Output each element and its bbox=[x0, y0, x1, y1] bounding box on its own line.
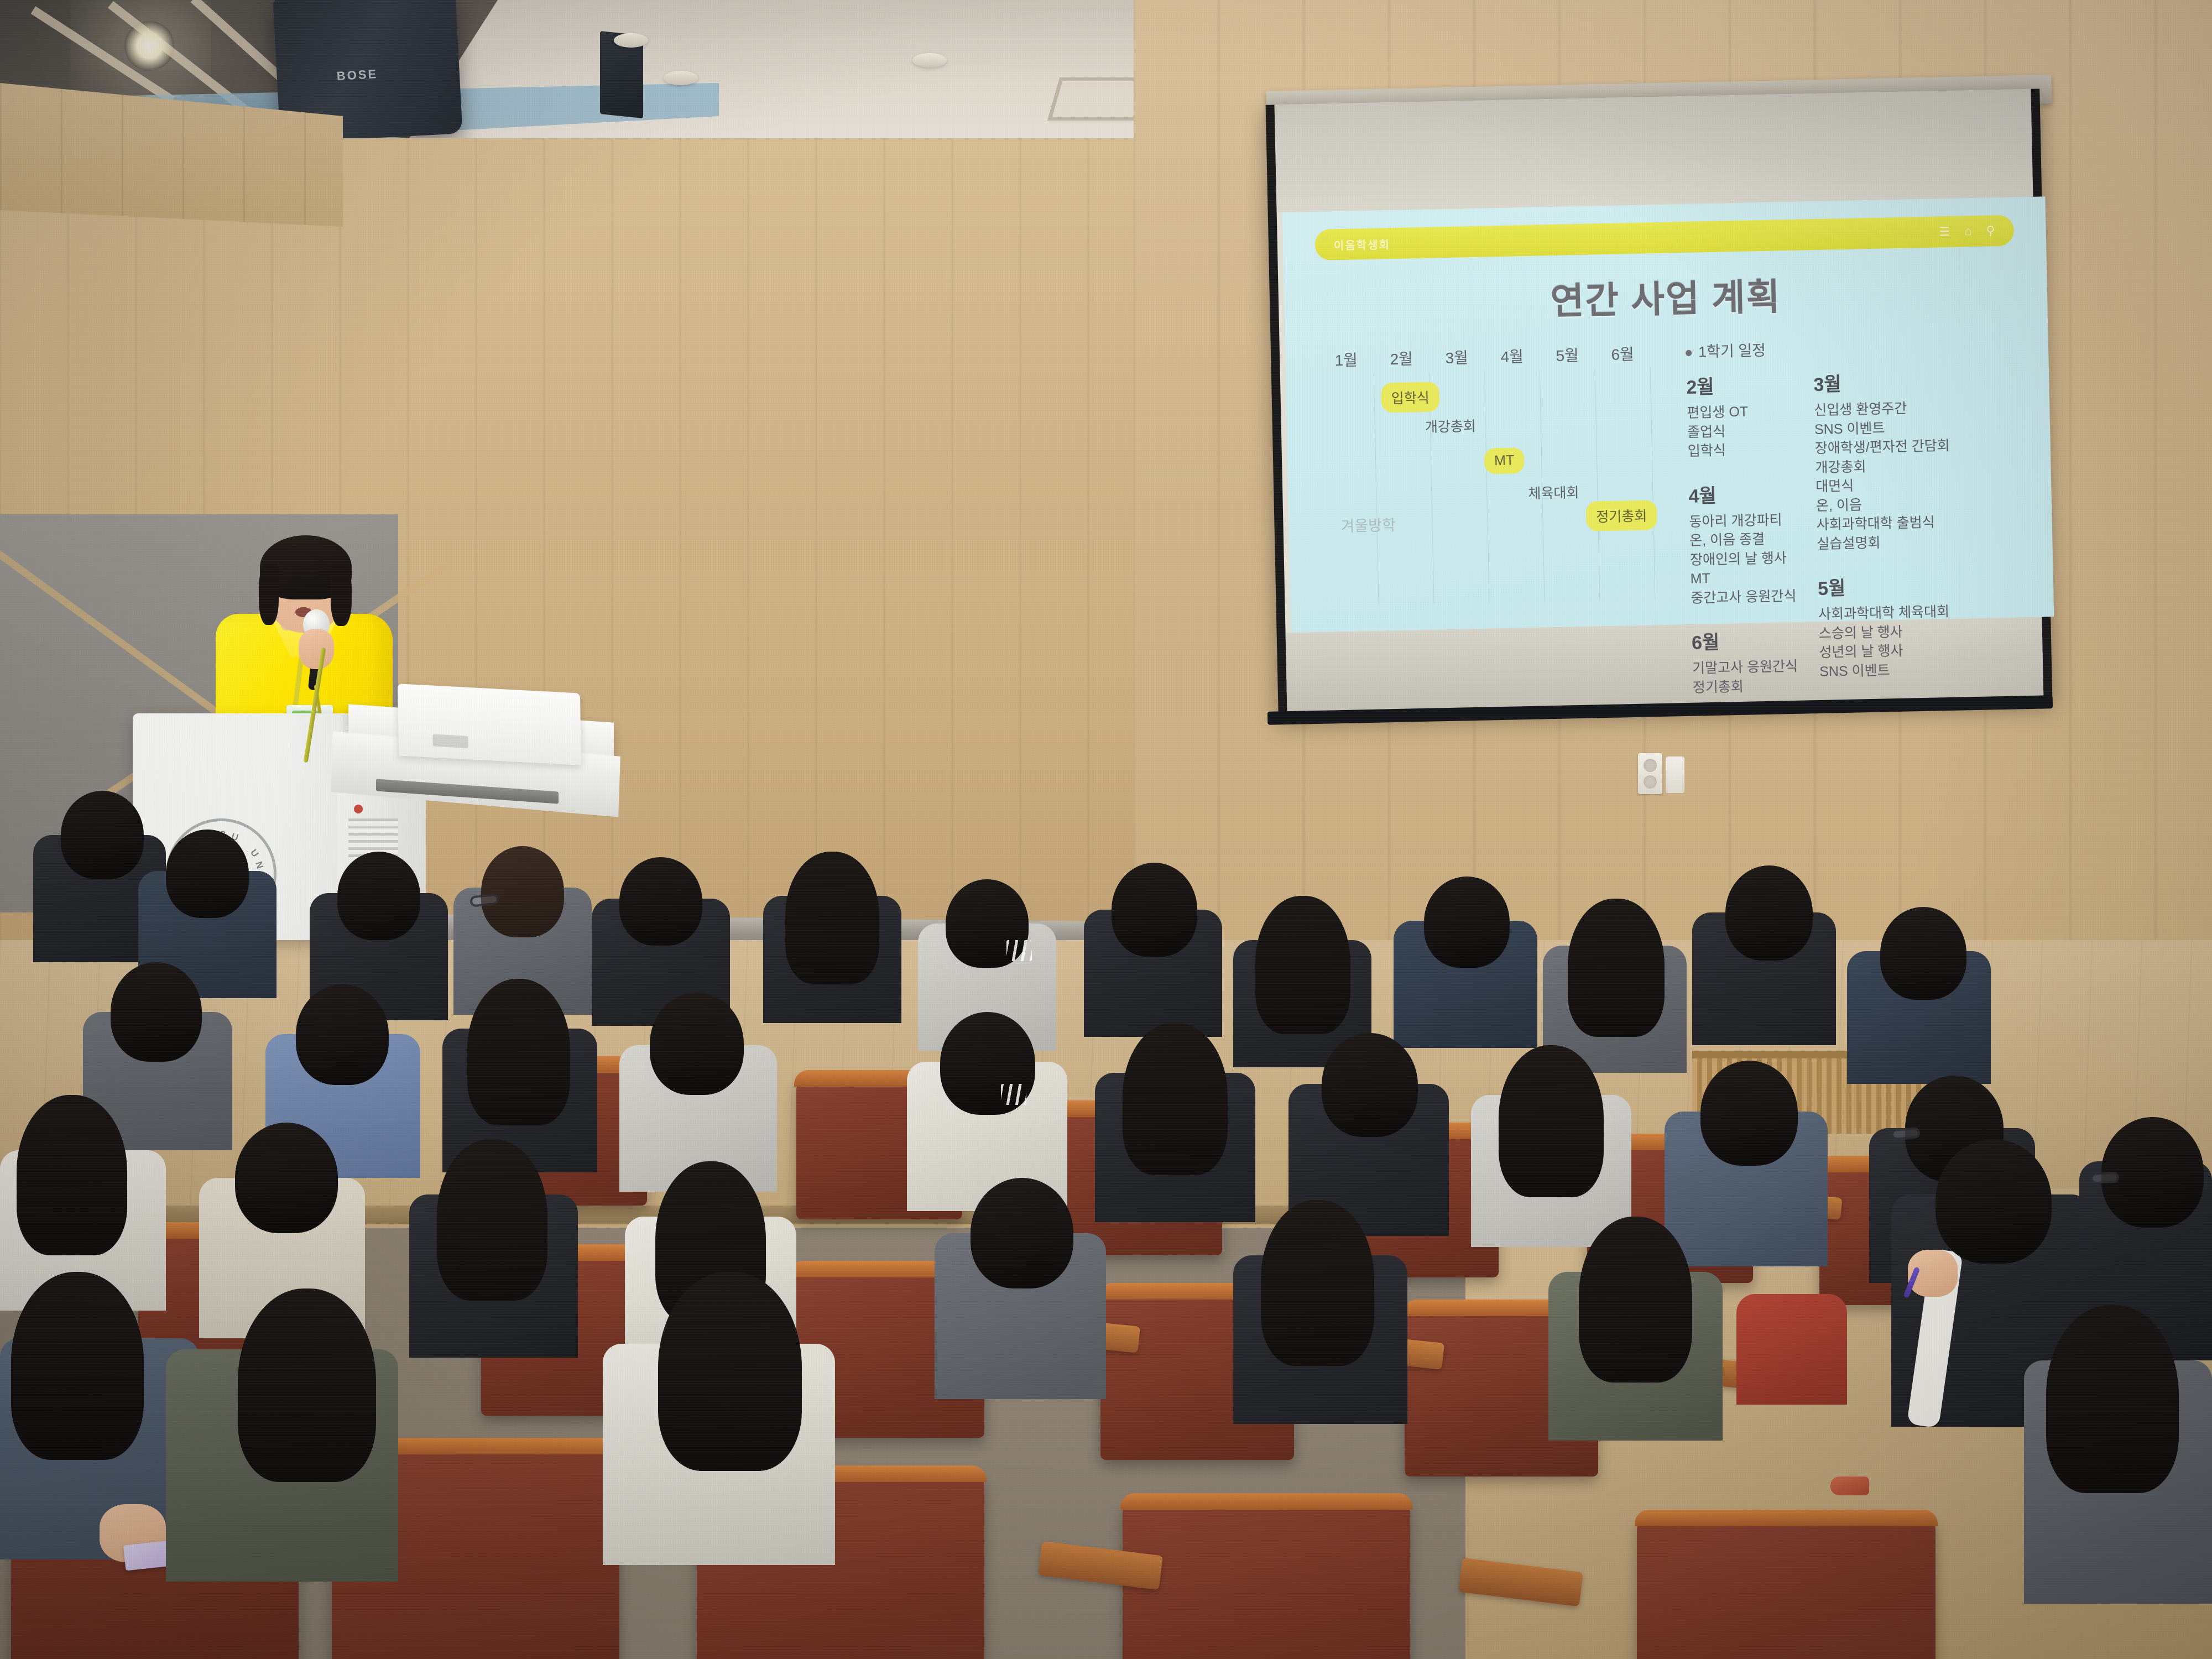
home-icon[interactable]: ⌂ bbox=[1964, 225, 1972, 237]
audience-member-head bbox=[1725, 865, 1813, 961]
slide-brand-label: 이음학생회 bbox=[1334, 236, 1391, 253]
presenter-hair-left bbox=[259, 564, 279, 625]
timeline-month-axis: 1월 2월 3월 4월 5월 6월 bbox=[1318, 341, 1673, 371]
timeline-marker-sports-day: 체육대회 bbox=[1528, 482, 1579, 503]
audience-member-hair bbox=[2046, 1305, 2179, 1493]
timeline-marker-entrance-ceremony: 입학식 bbox=[1381, 382, 1439, 413]
audience-member-head bbox=[1936, 1139, 2052, 1264]
audience-member-hair bbox=[238, 1288, 376, 1482]
agenda-item: 온, 이음 종결 bbox=[1689, 529, 1817, 550]
agenda-item: 입학식 bbox=[1688, 439, 1815, 461]
audience-member-hair bbox=[658, 1272, 802, 1471]
eyeglasses bbox=[1891, 1127, 1920, 1140]
timeline-month-label: 1월 bbox=[1318, 348, 1374, 371]
agenda-month-may: 5월 bbox=[1818, 570, 1979, 601]
auditorium-seat-foreground[interactable] bbox=[1637, 1515, 1936, 1659]
audience-member-hair bbox=[17, 1095, 127, 1255]
timeline-gridlines bbox=[1319, 367, 1667, 607]
timeline-marker-general-meeting: 정기총회 bbox=[1586, 500, 1657, 531]
audience-member-head bbox=[1700, 1061, 1798, 1166]
audience-member-head bbox=[481, 846, 564, 937]
agenda-month-apr: 4월 bbox=[1688, 478, 1816, 508]
audience-member-head bbox=[1112, 863, 1197, 957]
audience-member-hair bbox=[1261, 1200, 1374, 1366]
agenda-column-left: 2월 편입생 OT 졸업식 입학식 4월 동아리 개강파티 온, 이음 종결 장… bbox=[1686, 338, 1820, 697]
slide-body: 1월 2월 3월 4월 5월 6월 bbox=[1307, 334, 2033, 705]
adidas-stripes-icon bbox=[1006, 940, 1032, 961]
audience-member-hair bbox=[1579, 1217, 1692, 1383]
slide-title: 연간 사업 계획 bbox=[1306, 262, 2026, 330]
laptop[interactable] bbox=[398, 684, 581, 765]
auditorium-photo: 이음학생회 ☰ ⌂ ⚲ 연간 사업 계획 1월 2월 3월 4월 5월 bbox=[0, 0, 2212, 1659]
screen-blank-top bbox=[1275, 89, 2033, 213]
agenda-item: 동아리 개강파티 bbox=[1689, 510, 1817, 531]
agenda-item: MT bbox=[1690, 567, 1818, 588]
agenda-item: 편입생 OT bbox=[1687, 401, 1814, 422]
audience-member-head bbox=[235, 1123, 338, 1233]
audience-member-head bbox=[61, 791, 144, 879]
audience-member-hair bbox=[1123, 1023, 1228, 1175]
agenda-item: 기말고사 응원간식 bbox=[1692, 656, 1820, 678]
timeline-month-label: 4월 bbox=[1484, 345, 1540, 368]
seat-armrest bbox=[1458, 1558, 1583, 1606]
presenter-hand bbox=[299, 629, 334, 669]
agenda-item: SNS 이벤트 bbox=[1819, 659, 1980, 681]
audience-member-head bbox=[111, 962, 202, 1062]
agenda-month-mar: 3월 bbox=[1813, 366, 1974, 397]
timeline-marker-mt: MT bbox=[1484, 447, 1525, 474]
search-icon[interactable]: ⚲ bbox=[1986, 225, 1995, 237]
audience-member-hair bbox=[1568, 899, 1665, 1037]
recessed-light bbox=[664, 71, 698, 85]
timeline-chart: 1월 2월 3월 4월 5월 6월 bbox=[1318, 341, 1678, 614]
presenter-hair-right bbox=[331, 564, 352, 626]
audience-member-head bbox=[1880, 907, 1966, 1000]
timeline-month-label: 5월 bbox=[1540, 343, 1595, 366]
agenda-panel: 1학기 일정 2월 편입생 OT 졸업식 입학식 4월 동아리 개강파티 온, … bbox=[1672, 334, 2022, 697]
slide-topbar: 이음학생회 ☰ ⌂ ⚲ bbox=[1314, 215, 2014, 260]
audience-member-hair bbox=[11, 1272, 144, 1460]
timeline-month-label: 2월 bbox=[1374, 347, 1430, 370]
shoe bbox=[1830, 1477, 1869, 1495]
recessed-light bbox=[614, 33, 648, 48]
menu-icon[interactable]: ☰ bbox=[1939, 226, 1950, 238]
audience-member-hair bbox=[785, 852, 879, 984]
timeline-marker-winter-break: 겨울방학 bbox=[1340, 513, 1396, 536]
agenda-heading-text: 1학기 일정 bbox=[1698, 342, 1766, 361]
audience-member-head bbox=[619, 857, 702, 946]
timeline-month-label: 3월 bbox=[1429, 346, 1485, 369]
audience-member-hair bbox=[437, 1139, 547, 1301]
spotlight bbox=[124, 21, 174, 71]
audience bbox=[0, 774, 2212, 1659]
projection-screen: 이음학생회 ☰ ⌂ ⚲ 연간 사업 계획 1월 2월 3월 4월 5월 bbox=[1266, 88, 2053, 716]
audience-member-hair bbox=[1255, 896, 1350, 1034]
audience-member-head bbox=[296, 984, 389, 1085]
agenda-month-jun: 6월 bbox=[1692, 625, 1819, 655]
agenda-item: 졸업식 bbox=[1687, 420, 1815, 442]
audience-member-head bbox=[1322, 1033, 1418, 1137]
projected-slide: 이음학생회 ☰ ⌂ ⚲ 연간 사업 계획 1월 2월 3월 4월 5월 bbox=[1282, 196, 2054, 633]
slide-topbar-icons: ☰ ⌂ ⚲ bbox=[1939, 225, 1995, 238]
ceiling-access-hatch bbox=[1047, 77, 1148, 121]
adidas-stripes-icon bbox=[1001, 1084, 1026, 1105]
agenda-item: 정기총회 bbox=[1692, 676, 1820, 697]
audience-member-hair bbox=[467, 979, 570, 1125]
timeline-marker-opening-assembly: 개강총회 bbox=[1425, 415, 1476, 436]
eyeglasses bbox=[2090, 1172, 2120, 1185]
timeline-month-label: 6월 bbox=[1595, 342, 1651, 365]
agenda-heading: 1학기 일정 bbox=[1686, 338, 1766, 362]
auditorium-seat-foreground[interactable] bbox=[1123, 1499, 1410, 1659]
bullet-dot bbox=[1686, 350, 1692, 356]
agenda-month-feb: 2월 bbox=[1686, 369, 1814, 399]
agenda-item: 중간고사 응원간식 bbox=[1691, 586, 1818, 608]
audience-member-head bbox=[971, 1178, 1073, 1288]
audience-member-head bbox=[650, 993, 744, 1095]
audience-member-head bbox=[166, 830, 249, 918]
audience-member-head bbox=[1424, 877, 1510, 968]
agenda-item: 장애인의 날 행사 bbox=[1690, 548, 1818, 570]
audience-member-body bbox=[1736, 1294, 1847, 1405]
audience-member-head bbox=[337, 852, 420, 940]
recessed-light bbox=[912, 53, 947, 67]
audience-member-hair bbox=[1499, 1045, 1604, 1197]
agenda-column-right: 3월 신입생 환영주간 SNS 이벤트 장애학생/편자전 간담회 개강총회 대면… bbox=[1813, 335, 1980, 695]
